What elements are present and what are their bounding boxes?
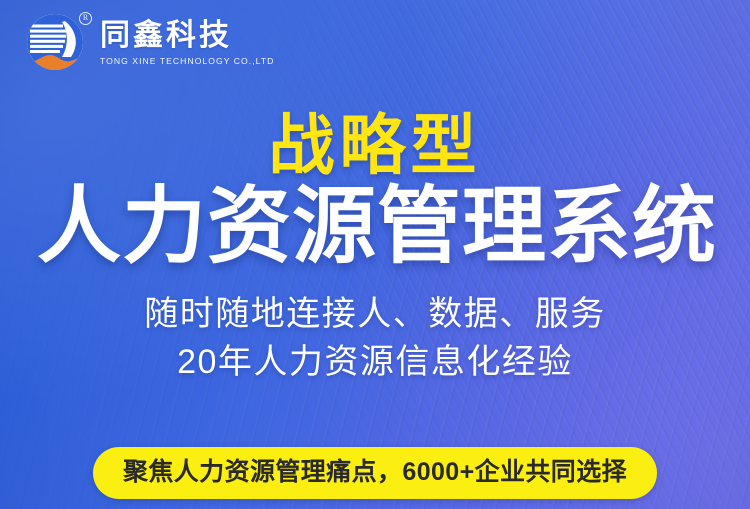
highlight-pill[interactable]: 聚焦人力资源管理痛点，6000+企业共同选择 bbox=[93, 447, 657, 499]
highlight-pill-row: 聚焦人力资源管理痛点，6000+企业共同选择 bbox=[0, 447, 750, 499]
logo-wordmark: 同鑫科技 TONG XINE TECHNOLOGY CO.,LTD bbox=[100, 18, 274, 66]
promo-banner: R 同鑫科技 TONG XINE TECHNOLOGY CO.,LTD 战略型 … bbox=[0, 0, 750, 509]
hero-copy: 战略型 人力资源管理系统 随时随地连接人、数据、服务 20年人力资源信息化经验 bbox=[0, 112, 750, 387]
hero-headline: 人力资源管理系统 bbox=[0, 184, 750, 268]
hero-kicker: 战略型 bbox=[0, 112, 750, 178]
company-name-en: TONG XINE TECHNOLOGY CO.,LTD bbox=[100, 57, 274, 66]
logo-lockup[interactable]: R 同鑫科技 TONG XINE TECHNOLOGY CO.,LTD bbox=[24, 6, 274, 78]
company-name-cn: 同鑫科技 bbox=[100, 20, 274, 52]
hero-subtitle-1: 随时随地连接人、数据、服务 bbox=[0, 290, 750, 338]
registered-trademark-icon: R bbox=[79, 12, 92, 25]
hero-subtitle-group: 随时随地连接人、数据、服务 20年人力资源信息化经验 bbox=[0, 290, 750, 387]
company-logo-mark: R bbox=[24, 11, 86, 73]
hero-subtitle-2: 20年人力资源信息化经验 bbox=[0, 338, 750, 386]
